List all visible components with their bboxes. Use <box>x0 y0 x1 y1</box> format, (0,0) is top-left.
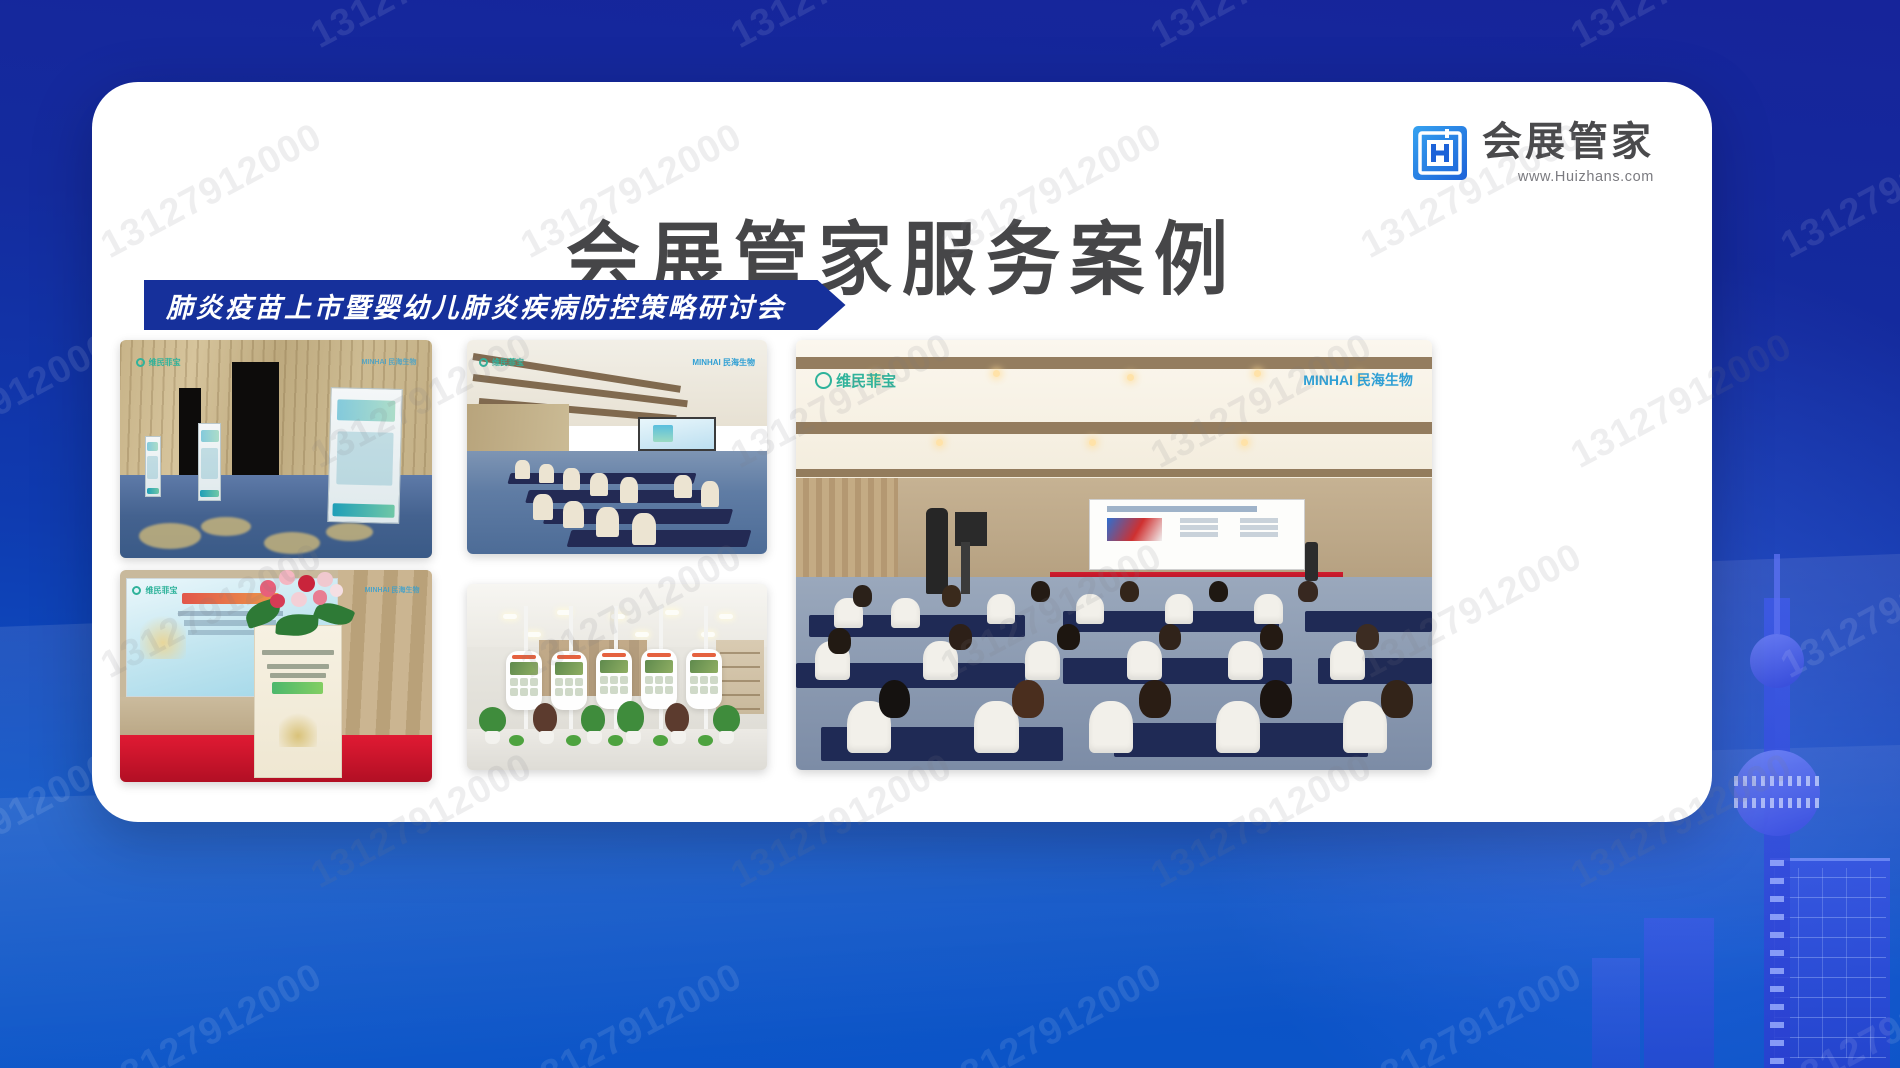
exhibition-bookshelf <box>716 640 764 714</box>
photo-watermark-minhaifeibao: 维民菲宝 <box>479 357 524 368</box>
skyline-building-mid <box>1644 918 1714 1068</box>
photo-exhibition-boards[interactable] <box>467 584 767 770</box>
exhibition-board <box>596 649 632 709</box>
exhibition-board <box>641 649 677 709</box>
stage-flower-arrangement <box>251 570 357 646</box>
hall-projection-screen <box>638 417 716 451</box>
brand-logo[interactable]: 会展管家 www.Huizhans.com <box>1412 122 1654 185</box>
photo-watermark-minhai: MINHAI 民海生物 <box>365 585 420 595</box>
photo-watermark-minhai: MINHAI 民海生物 <box>1303 370 1413 390</box>
event-standee <box>254 625 341 778</box>
photo-watermark-minhaifeibao: 维民菲宝 <box>136 357 181 368</box>
photo-watermark-minhai: MINHAI 民海生物 <box>692 357 755 368</box>
entrance-main-door <box>232 362 279 482</box>
exhibition-board <box>686 649 722 709</box>
photo-venue-entrance[interactable]: 维民菲宝 MINHAI 民海生物 <box>120 340 432 558</box>
photo-empty-conference-hall[interactable]: 维民菲宝 MINHAI 民海生物 <box>467 340 767 554</box>
speaker-podium <box>1305 542 1318 581</box>
exhibition-board <box>551 651 587 711</box>
skyline-building-far <box>1592 958 1640 1068</box>
video-camera <box>955 512 987 546</box>
exhibition-board <box>506 651 542 711</box>
skyline-window-grid <box>1774 868 1886 1058</box>
brand-name: 会展管家 <box>1482 122 1654 162</box>
photo-watermark-minhaifeibao: 维民菲宝 <box>815 370 896 391</box>
photo-watermark-minhaifeibao: 维民菲宝 <box>132 585 177 596</box>
session-projection-screen <box>1089 499 1305 570</box>
brand-url[interactable]: www.Huizhans.com <box>1482 170 1654 185</box>
skyline-tower-spire <box>1774 554 1780 634</box>
event-title-text: 肺炎疫苗上市暨婴幼儿肺炎疾病防控策略研讨会 <box>166 286 786 325</box>
photo-main-session-audience[interactable]: 维民菲宝 MINHAI 民海生物 <box>796 340 1432 770</box>
camera-tripod <box>961 542 970 594</box>
photo-watermark-minhai: MINHAI 民海生物 <box>362 357 417 367</box>
skyline-tower-ladder <box>1770 854 1784 1064</box>
skyline-tower-lower-sphere <box>1734 750 1820 836</box>
entrance-main-poster <box>327 387 402 524</box>
skyline-tower-upper-sphere <box>1750 634 1804 688</box>
event-title-ribbon: 肺炎疫苗上市暨婴幼儿肺炎疾病防控策略研讨会 <box>144 280 846 330</box>
content-card: 会展管家 www.Huizhans.com 会展管家服务案例 肺炎疫苗上市暨婴幼… <box>92 82 1712 822</box>
cameraman <box>926 508 948 594</box>
huizhans-logo-icon <box>1412 125 1468 181</box>
photo-gallery: 维民菲宝 MINHAI 民海生物 <box>120 340 1680 790</box>
photo-stage-standee[interactable]: 维民菲宝 MINHAI 民海生物 <box>120 570 432 782</box>
